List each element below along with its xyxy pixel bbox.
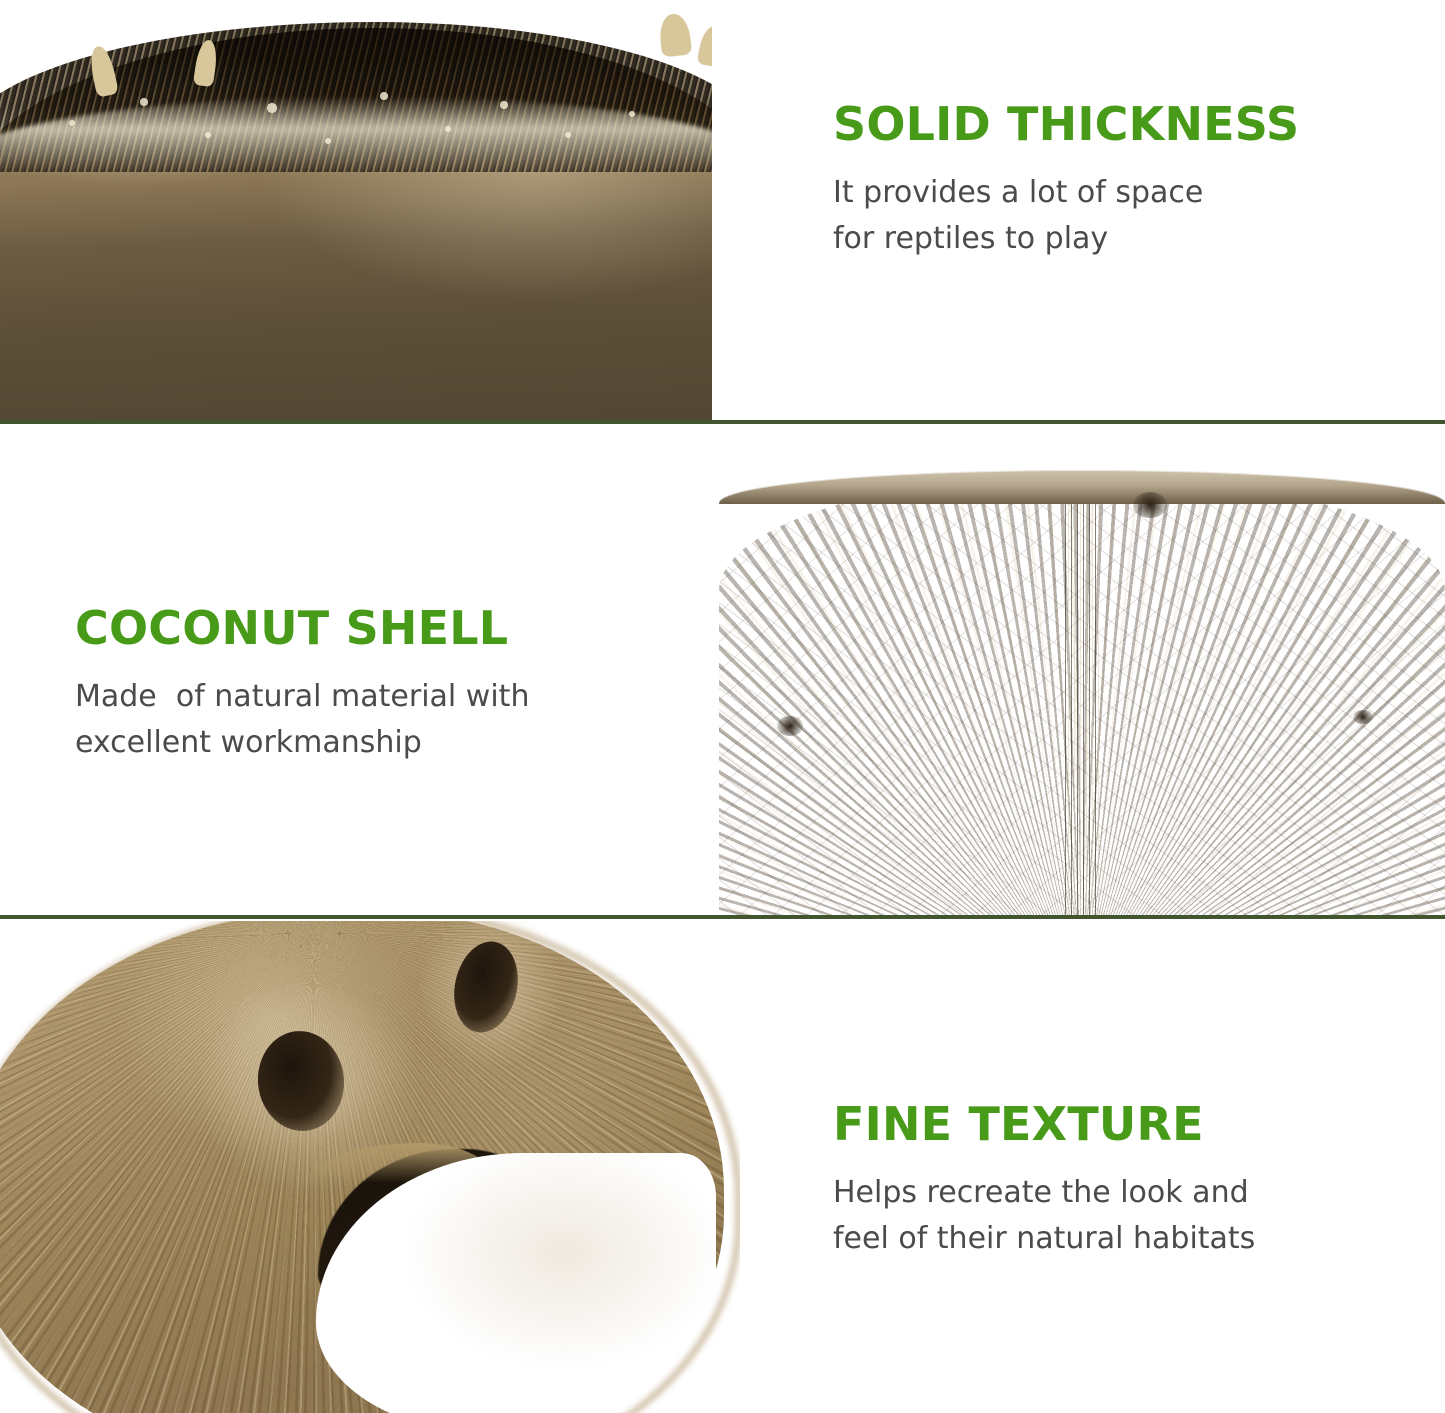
fine-texture-heading: FINE TEXTURE	[833, 1100, 1433, 1148]
shell-cut-rim	[719, 470, 1445, 504]
shell-blemish	[1133, 492, 1167, 518]
solid-thickness-heading: SOLID THICKNESS	[833, 100, 1403, 148]
coconut-shell-description: Made of natural material with excellent …	[75, 674, 675, 765]
shell-blemish	[1353, 710, 1373, 724]
solid-thickness-description: It provides a lot of space for reptiles …	[833, 170, 1403, 261]
husk-fuzzy-silhouette	[0, 921, 740, 1413]
husk-fibre-nub	[697, 24, 712, 68]
coconut-shell-heading: COCONUT SHELL	[75, 604, 675, 652]
coconut-shell-hide-photo	[0, 921, 740, 1413]
shell-central-seam	[1065, 482, 1099, 917]
coconut-shell-interior-photo	[713, 458, 1445, 917]
solid-thickness-text-block: SOLID THICKNESS It provides a lot of spa…	[833, 100, 1403, 261]
fine-texture-text-block: FINE TEXTURE Helps recreate the look and…	[833, 1100, 1433, 1261]
feature-section-solid-thickness: SOLID THICKNESS It provides a lot of spa…	[0, 0, 1445, 422]
shell-blemish	[777, 716, 803, 736]
fine-texture-description: Helps recreate the look and feel of thei…	[833, 1170, 1433, 1261]
husk-fibre-nub	[658, 13, 692, 58]
coconut-shell-text-block: COCONUT SHELL Made of natural material w…	[75, 604, 675, 765]
product-feature-infographic: SOLID THICKNESS It provides a lot of spa…	[0, 0, 1445, 1413]
coconut-shell-thickness-photo	[0, 0, 712, 422]
